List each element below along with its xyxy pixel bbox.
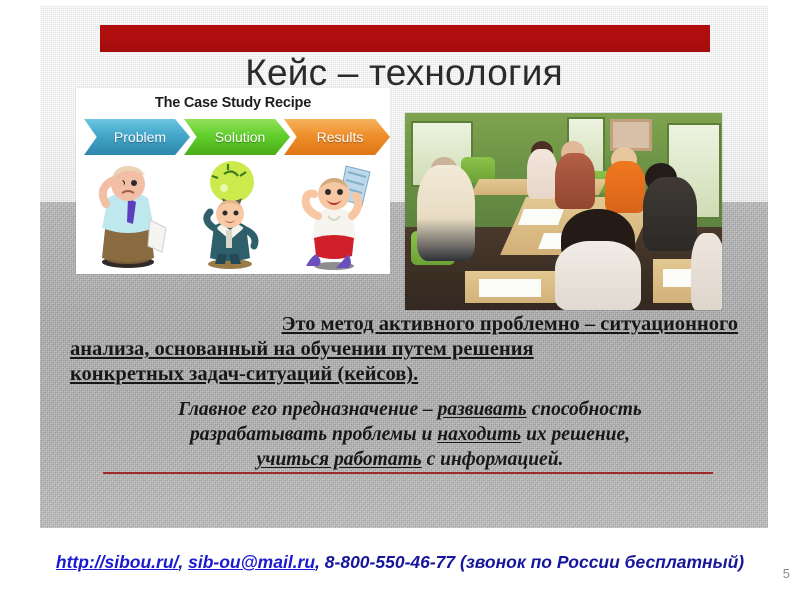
purpose-line-3-b: с информацией. [422,449,564,470]
celebrating-man-cartoon [286,158,378,270]
footer-separator: , [178,552,188,572]
presentation-slide: Кейс – технология The Case Study Recipe … [0,0,800,600]
site-url-link[interactable]: http://sibou.ru/ [56,552,178,572]
footer-contacts: http://sibou.ru/, sib-ou@mail.ru, 8-800-… [0,552,800,573]
phone-note: (звонок по России бесплатный) [455,552,744,572]
purpose-line-2-c: их решение, [521,424,630,445]
purpose-line-1-emphasis: развивать [438,399,527,420]
photo-paper [518,209,564,225]
slide-number: 5 [783,566,790,581]
red-divider-rule [103,472,713,474]
process-arrow-row: Problem Solution Results [84,119,384,155]
photo-person [555,241,641,310]
purpose-line-2-a: разрабатывать проблемы и [190,424,437,445]
purpose-line-2-emphasis: находить [437,424,521,445]
seminar-group-photo [405,113,722,310]
definition-paragraph: Это метод активного проблемно – ситуацио… [70,312,738,387]
photo-paper [479,279,541,297]
email-link[interactable]: sib-ou@mail.ru [188,552,315,572]
case-study-recipe-card: The Case Study Recipe Problem Solution R… [76,88,390,274]
photo-person [605,161,645,213]
footer-separator: , [315,552,325,572]
definition-text: Это метод активного проблемно – ситуацио… [70,312,738,387]
definition-line-1: Это метод активного проблемно – ситуацио… [70,312,738,337]
purpose-line-3: учиться работать с информацией. [104,447,716,472]
process-step-problem: Problem [84,119,190,155]
process-step-results: Results [284,119,390,155]
photo-wall-frame [610,119,652,151]
photo-person-teacher [417,165,475,261]
cartoon-row [76,158,390,270]
phone-number: 8-800-550-46-77 [325,552,455,572]
photo-person [691,233,722,310]
photo-person [527,149,557,199]
purpose-line-1-c: способность [527,399,642,420]
purpose-line-2: разрабатывать проблемы и находить их реш… [104,422,716,447]
process-step-solution: Solution [184,119,290,155]
definition-line-3: конкретных задач-ситуаций (кейсов). [70,363,418,385]
title-accent-bar [100,25,710,52]
recipe-card-title: The Case Study Recipe [76,95,390,111]
idea-lightbulb-man-cartoon [184,158,276,270]
photo-person [643,177,697,251]
purpose-line-1-a: Главное его предназначение – [178,399,437,420]
confused-man-cartoon [82,158,174,270]
purpose-line-3-emphasis: учиться работать [257,449,422,470]
photo-person [555,153,595,209]
purpose-paragraph: Главное его предназначение – развивать с… [104,397,716,472]
purpose-line-1: Главное его предназначение – развивать с… [104,397,716,422]
definition-line-2: анализа, основанный на обучении путем ре… [70,337,738,362]
